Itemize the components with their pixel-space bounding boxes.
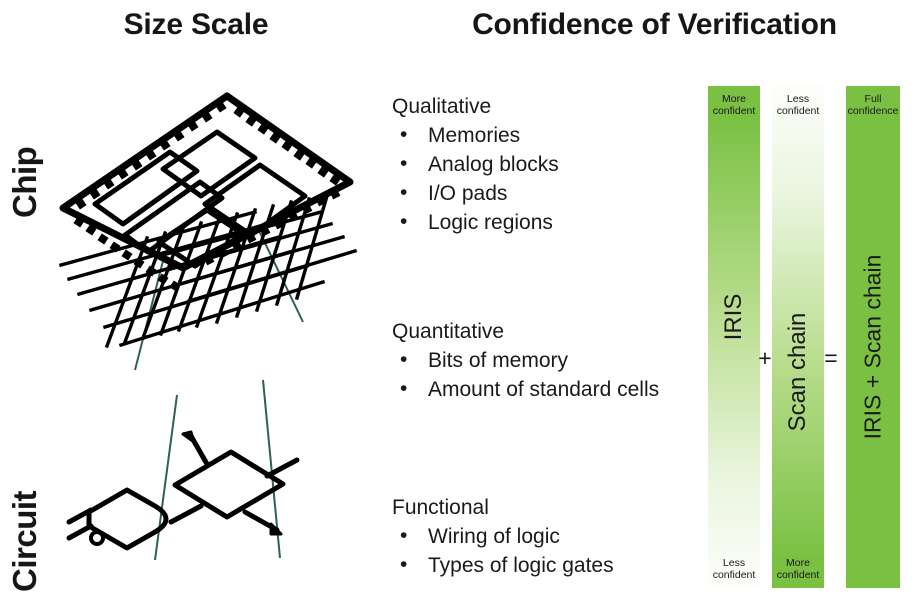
list-item-label: Wiring of logic [428, 525, 560, 548]
bar-top-caption: More confident [708, 93, 760, 117]
description-list-quantitative: •Bits of memory •Amount of standard cell… [392, 347, 659, 405]
list-item: •Bits of memory [392, 347, 659, 376]
confidence-bar-scan-chain: Less confident Scan chain More confident [772, 86, 824, 588]
bar-bottom-caption: Less confident [708, 557, 760, 581]
list-item: •Wiring of logic [392, 523, 614, 552]
bar-bottom-caption: More confident [772, 557, 824, 581]
page-title-size-scale: Size Scale [0, 8, 392, 42]
description-group-functional: Functional •Wiring of logic •Types of lo… [392, 496, 614, 581]
list-item-label: Bits of memory [428, 349, 568, 372]
description-heading-quantitative: Quantitative [392, 320, 659, 344]
description-group-qualitative: Qualitative •Memories •Analog blocks •I/… [392, 95, 559, 238]
description-group-quantitative: Quantitative •Bits of memory •Amount of … [392, 320, 659, 405]
list-item: •Logic regions [392, 209, 559, 238]
description-heading-qualitative: Qualitative [392, 95, 559, 119]
list-item-label: I/O pads [428, 182, 507, 205]
bullet-icon: • [400, 346, 407, 375]
list-item-label: Logic regions [428, 211, 553, 234]
list-item-label: Types of logic gates [428, 554, 614, 577]
list-item: •Amount of standard cells [392, 376, 659, 405]
description-heading-functional: Functional [392, 496, 614, 520]
size-scale-illustration-column [55, 60, 375, 603]
bullet-icon: • [400, 522, 407, 551]
confidence-bars-panel: More confident IRIS Less confident + Les… [690, 60, 917, 603]
operator-equals: = [822, 345, 840, 372]
bullet-icon: • [400, 375, 407, 404]
logic-gates-graphic [69, 432, 297, 548]
list-item: •Types of logic gates [392, 552, 614, 581]
bullet-icon: • [400, 150, 407, 179]
bar-label-scan-chain: Scan chain [784, 313, 812, 432]
bullet-icon: • [400, 121, 407, 150]
list-item: •Memories [392, 122, 559, 151]
bar-label-iris: IRIS [720, 294, 748, 341]
description-list-functional: •Wiring of logic •Types of logic gates [392, 523, 614, 581]
page-title-confidence-of-verification: Confidence of Verification [392, 8, 917, 42]
axis-label-circuit: Circuit [6, 491, 44, 592]
description-list-qualitative: •Memories •Analog blocks •I/O pads •Logi… [392, 122, 559, 238]
confidence-bar-iris: More confident IRIS Less confident [708, 86, 760, 588]
bar-top-caption: Less confident [772, 93, 824, 117]
list-item-label: Amount of standard cells [428, 378, 659, 401]
size-scale-svg [55, 60, 375, 603]
bullet-icon: • [400, 551, 407, 580]
list-item-label: Memories [428, 124, 520, 147]
confidence-bar-iris-plus-scan-chain: Full confidence IRIS + Scan chain [846, 86, 900, 588]
bar-label-iris-plus-scan-chain: IRIS + Scan chain [860, 255, 887, 440]
list-item: •Analog blocks [392, 151, 559, 180]
list-item: •I/O pads [392, 180, 559, 209]
bar-top-caption: Full confidence [846, 93, 900, 117]
bullet-icon: • [400, 208, 407, 237]
axis-label-chip: Chip [6, 147, 44, 218]
bullet-icon: • [400, 179, 407, 208]
list-item-label: Analog blocks [428, 153, 559, 176]
